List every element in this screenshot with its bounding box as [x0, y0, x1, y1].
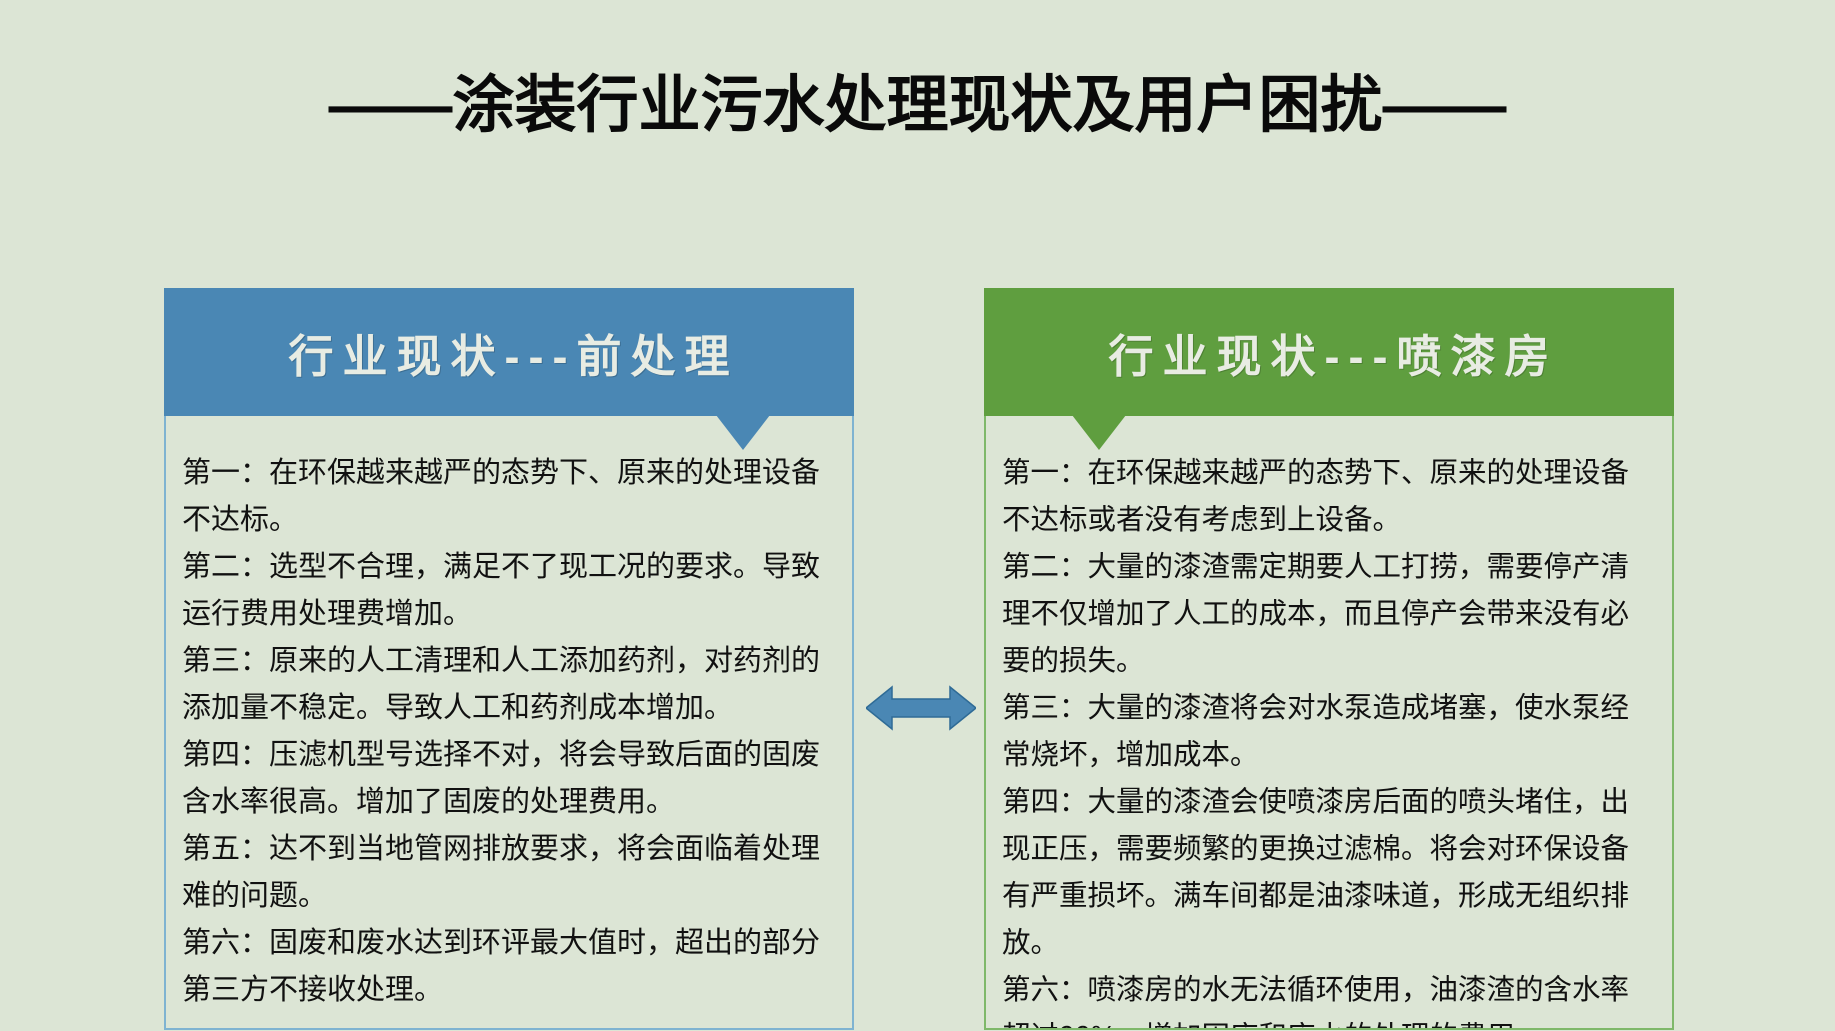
body-line: 第二：选型不合理，满足不了现工况的要求。导致 — [182, 544, 836, 591]
header-pointer-icon — [716, 415, 770, 450]
body-line: 第一：在环保越来越严的态势下、原来的处理设备 — [182, 450, 836, 497]
panel-body-pretreatment: 第一：在环保越来越严的态势下、原来的处理设备 不达标。 第二：选型不合理，满足不… — [164, 416, 854, 1030]
body-line: 第二：大量的漆渣需定期要人工打捞，需要停产清 — [1002, 544, 1656, 591]
body-line: 含水率很高。增加了固废的处理费用。 — [182, 779, 836, 826]
panel-header-label-spray-booth: 行业现状---喷漆房 — [1100, 320, 1559, 385]
body-line: 第六：喷漆房的水无法循环使用，油漆渣的含水率 — [1002, 967, 1656, 1014]
slide-canvas: ——涂装行业污水处理现状及用户困扰—— 行业现状---前处理 第一：在环保越来越… — [0, 0, 1835, 1031]
body-line: 不达标。 — [182, 497, 836, 544]
body-line: 第一：在环保越来越严的态势下、原来的处理设备 — [1002, 450, 1656, 497]
body-line: 理不仅增加了人工的成本，而且停产会带来没有必 — [1002, 591, 1656, 638]
page-title: ——涂装行业污水处理现状及用户困扰—— — [328, 72, 1506, 140]
panel-pretreatment: 行业现状---前处理 第一：在环保越来越严的态势下、原来的处理设备 不达标。 第… — [164, 288, 854, 1030]
page-title-wrap: ——涂装行业污水处理现状及用户困扰—— — [0, 72, 1835, 140]
panel-body-spray-booth: 第一：在环保越来越严的态势下、原来的处理设备 不达标或者没有考虑到上设备。 第二… — [984, 416, 1674, 1030]
body-line: 超过90%。增加固废和废水的处理的费用。 — [1002, 1014, 1656, 1030]
body-line: 第三：原来的人工清理和人工添加药剂，对药剂的 — [182, 638, 836, 685]
body-line: 第六：固废和废水达到环评最大值时，超出的部分 — [182, 920, 836, 967]
body-line: 第三方不接收处理。 — [182, 967, 836, 1014]
body-line: 添加量不稳定。导致人工和药剂成本增加。 — [182, 685, 836, 732]
panel-header-label-pretreatment: 行业现状---前处理 — [280, 320, 739, 385]
panel-header-spray-booth: 行业现状---喷漆房 — [984, 288, 1674, 416]
header-pointer-icon — [1072, 415, 1126, 450]
panel-header-pretreatment: 行业现状---前处理 — [164, 288, 854, 416]
body-line: 第四：大量的漆渣会使喷漆房后面的喷头堵住，出 — [1002, 779, 1656, 826]
body-line: 放。 — [1002, 920, 1656, 967]
body-line: 第五：达不到当地管网排放要求，将会面临着处理 — [182, 826, 836, 873]
panel-spray-booth: 行业现状---喷漆房 第一：在环保越来越严的态势下、原来的处理设备 不达标或者没… — [984, 288, 1674, 1030]
body-line: 第三：大量的漆渣将会对水泵造成堵塞，使水泵经 — [1002, 685, 1656, 732]
body-line: 不达标或者没有考虑到上设备。 — [1002, 497, 1656, 544]
body-line: 第四：压滤机型号选择不对，将会导致后面的固废 — [182, 732, 836, 779]
body-line: 常烧坏，增加成本。 — [1002, 732, 1656, 779]
body-line: 要的损失。 — [1002, 638, 1656, 685]
double-headed-arrow-icon — [866, 678, 976, 738]
body-line: 难的问题。 — [182, 873, 836, 920]
body-line: 运行费用处理费增加。 — [182, 591, 836, 638]
body-line: 现正压，需要频繁的更换过滤棉。将会对环保设备 — [1002, 826, 1656, 873]
body-line: 有严重损坏。满车间都是油漆味道，形成无组织排 — [1002, 873, 1656, 920]
